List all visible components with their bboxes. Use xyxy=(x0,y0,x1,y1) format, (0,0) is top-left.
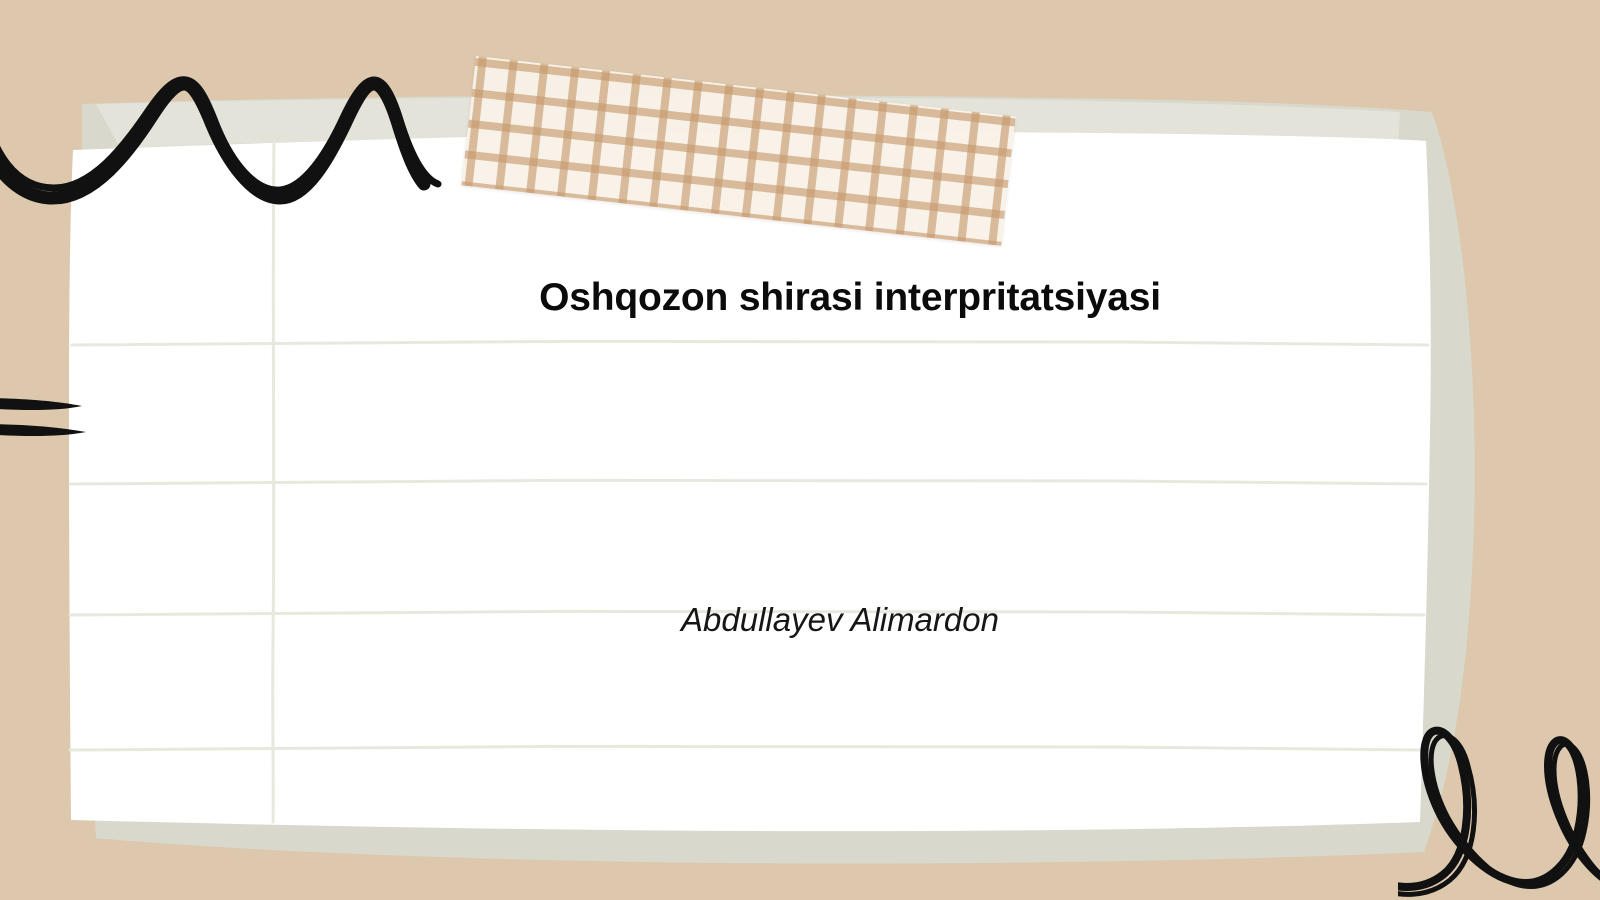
page-title: Oshqozon shirasi interpritatsiyasi xyxy=(300,275,1400,321)
author-block: Abdullayev Alimardon xyxy=(340,600,1340,640)
wave-squiggle-stroke-outer xyxy=(0,74,424,198)
rule-line-horizontal-4 xyxy=(70,746,1422,750)
slide-canvas: Oshqozon shirasi interpritatsiyasi Abdul… xyxy=(0,0,1600,900)
cursive-loops-stroke-outer xyxy=(1398,731,1600,891)
wave-squiggle-stroke-inner xyxy=(0,80,438,190)
gingham-washi-tape xyxy=(462,56,1016,246)
double-dash-doodle xyxy=(0,380,112,450)
author-name: Abdullayev Alimardon xyxy=(340,600,1340,640)
rule-line-horizontal-2 xyxy=(70,480,1426,484)
paper-sheet-shape xyxy=(69,132,1431,831)
rule-line-vertical-margin xyxy=(273,142,274,822)
double-dash-stroke-bottom xyxy=(0,424,86,436)
double-dash-stroke-top xyxy=(0,398,82,410)
title-block: Oshqozon shirasi interpritatsiyasi xyxy=(300,275,1400,321)
cursive-loops-doodle xyxy=(1398,690,1600,900)
wave-squiggle-doodle xyxy=(0,32,454,222)
rule-line-horizontal-1 xyxy=(72,341,1428,345)
cursive-loops-stroke-inner xyxy=(1398,736,1600,896)
